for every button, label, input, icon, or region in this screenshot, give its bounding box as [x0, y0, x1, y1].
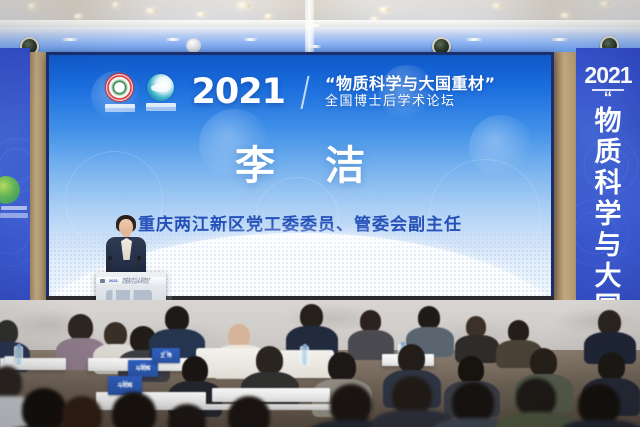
university-emblem-cell [105, 73, 135, 112]
ceiling-spotlight [145, 8, 158, 14]
ceiling-light-strip [244, 38, 257, 41]
university-emblem-caption [105, 104, 135, 112]
ceiling-light-strip [62, 38, 78, 41]
audience-head [330, 384, 372, 424]
banner-char: 学 [576, 199, 640, 230]
screen-header: 2021 “物质科学与大国重材” 全国博士后学术论坛 [49, 69, 551, 115]
lectern-badge-line2: 全国博士后学术论坛 [122, 281, 151, 284]
banner-logo-text [1, 206, 27, 210]
audience-head [418, 306, 440, 329]
audience-head [598, 310, 621, 334]
audience-head [300, 304, 323, 328]
forum-title-block: “物质科学与大国重材” 全国博士后学术论坛 [325, 75, 496, 109]
name-card-name: 王 伟 [160, 354, 172, 360]
ceiling-spotlight [74, 14, 83, 19]
ceiling-spotlight [378, 7, 391, 13]
lectern-badge-icon [100, 279, 105, 283]
audience-head [62, 396, 102, 427]
table-name-card: 论坛 王 伟 [152, 348, 180, 363]
ceiling-spotlight [492, 3, 503, 9]
right-standing-banner: 2021 “ 物 质 科 学 与 大 国 重 [576, 48, 640, 328]
ceiling-light-strip [466, 38, 482, 41]
audience-head [458, 356, 484, 383]
audience-head [328, 352, 356, 381]
lectern-badge-year: 2021 [109, 279, 118, 283]
hall-ceiling [0, 0, 640, 58]
ceiling-spotlight [196, 12, 207, 17]
audience-head [392, 376, 432, 414]
microphone-head [108, 256, 112, 260]
banner-year: 2021 [576, 62, 640, 89]
audience-table [212, 388, 330, 402]
banner-char: 质 [576, 137, 640, 168]
ceiling-spotlight [600, 1, 610, 7]
ceiling-light-strip [552, 38, 567, 41]
tea-cup [4, 356, 15, 366]
microphone-head [137, 256, 141, 260]
ceiling-spotlight [236, 2, 251, 9]
banner-char: 与 [576, 230, 640, 261]
forum-title-main: “物质科学与大国重材” [325, 75, 496, 93]
water-bottle [300, 346, 309, 366]
audience-head [466, 316, 486, 337]
audience-head [530, 348, 557, 376]
audience-head [104, 322, 127, 346]
name-card-name: 马明辉 [117, 384, 132, 390]
audience-head [516, 378, 556, 416]
screenshot-root: 2021 “ 物 质 科 学 与 大 国 重 [0, 0, 640, 427]
institute-emblem-caption [146, 103, 176, 111]
audience-head [452, 382, 494, 422]
ceiling-spotlight [560, 13, 571, 18]
banner-logo-subtext [0, 213, 28, 218]
ceiling-spotlight [264, 14, 273, 19]
screen-logos [105, 73, 176, 112]
audience-head [598, 352, 625, 380]
audience-head [0, 320, 18, 344]
banner-vertical-title: 物 质 科 学 与 大 国 重 [576, 106, 640, 328]
institute-emblem-icon [147, 74, 174, 101]
name-card-name: 马明辉 [135, 367, 150, 373]
banner-char: 科 [576, 168, 640, 199]
ceiling-dome-light [186, 38, 201, 53]
audience-head [68, 314, 93, 340]
audience-head [165, 306, 189, 331]
header-divider [300, 76, 309, 109]
audience-head [508, 320, 529, 342]
university-emblem-icon [105, 73, 134, 102]
forum-year: 2021 [192, 75, 285, 110]
audience-head [398, 344, 425, 372]
banner-quote-mark: “ [576, 90, 640, 105]
speaker-name: 李 洁 [49, 133, 551, 191]
banner-char: 大 [576, 261, 640, 292]
ceiling-spotlight [28, 3, 37, 10]
audience-head [182, 356, 208, 383]
audience-head [22, 388, 66, 427]
audience-area: 论坛 马明辉 论坛 王 伟 [0, 300, 640, 427]
lectern-badge: 2021 “物质科学与大国重材” 全国博士后学术论坛 [96, 277, 166, 285]
ceiling-light-strip [310, 45, 321, 48]
ceiling-light-strip [310, 24, 321, 27]
audience-head [360, 310, 381, 332]
ceiling-light-strip [166, 38, 180, 41]
institute-emblem-cell [146, 74, 176, 111]
audience-head [256, 346, 283, 374]
forum-title-sub: 全国博士后学术论坛 [325, 95, 496, 110]
presenter-at-podium [100, 215, 152, 279]
audience-head [228, 324, 250, 347]
ceiling-seam [305, 0, 314, 58]
audience-head [578, 384, 620, 424]
ceiling-spotlight [112, 2, 120, 8]
audience-head [112, 392, 156, 427]
left-standing-banner [0, 48, 30, 328]
banner-char: 物 [576, 106, 640, 137]
